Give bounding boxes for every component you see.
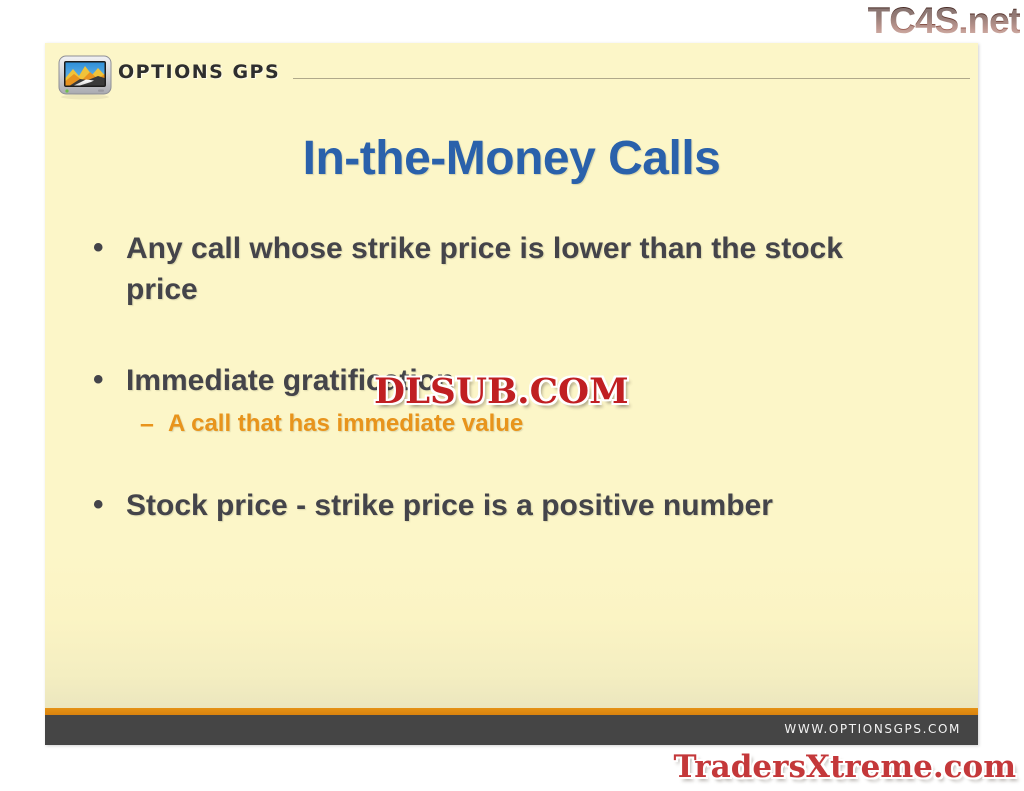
sub-bullet-text: A call that has immediate value bbox=[168, 409, 523, 439]
bullet-text: Any call whose strike price is lower tha… bbox=[126, 228, 916, 310]
spacer bbox=[93, 447, 938, 485]
bullet-item: • Any call whose strike price is lower t… bbox=[93, 228, 938, 310]
slide-footer: www.OptionsGPS.com bbox=[45, 715, 978, 745]
gps-device-icon bbox=[58, 54, 116, 100]
bullet-item: • Stock price - strike price is a positi… bbox=[93, 485, 938, 526]
slide-title: In-the-Money Calls bbox=[45, 131, 978, 186]
sub-bullet-item: – A call that has immediate value bbox=[93, 409, 938, 439]
header-divider bbox=[293, 78, 970, 79]
accent-rule bbox=[45, 708, 978, 715]
brand-wordmark: Options GPS bbox=[118, 61, 280, 83]
bullet-text: Stock price - strike price is a positive… bbox=[126, 485, 773, 526]
sub-bullet-marker-icon: – bbox=[140, 409, 168, 439]
footer-url: www.OptionsGPS.com bbox=[784, 722, 961, 736]
dlsub-watermark: DLSUB.COM bbox=[374, 371, 629, 412]
slide-header: Options GPS bbox=[45, 43, 978, 105]
bullet-marker-icon: • bbox=[93, 228, 126, 268]
spacer bbox=[93, 318, 938, 360]
bullet-marker-icon: • bbox=[93, 360, 126, 400]
tc4s-watermark: TC4S.net bbox=[868, 2, 1020, 39]
tradersxtreme-watermark: TradersXtreme.com bbox=[673, 749, 1016, 785]
bullet-marker-icon: • bbox=[93, 485, 126, 525]
